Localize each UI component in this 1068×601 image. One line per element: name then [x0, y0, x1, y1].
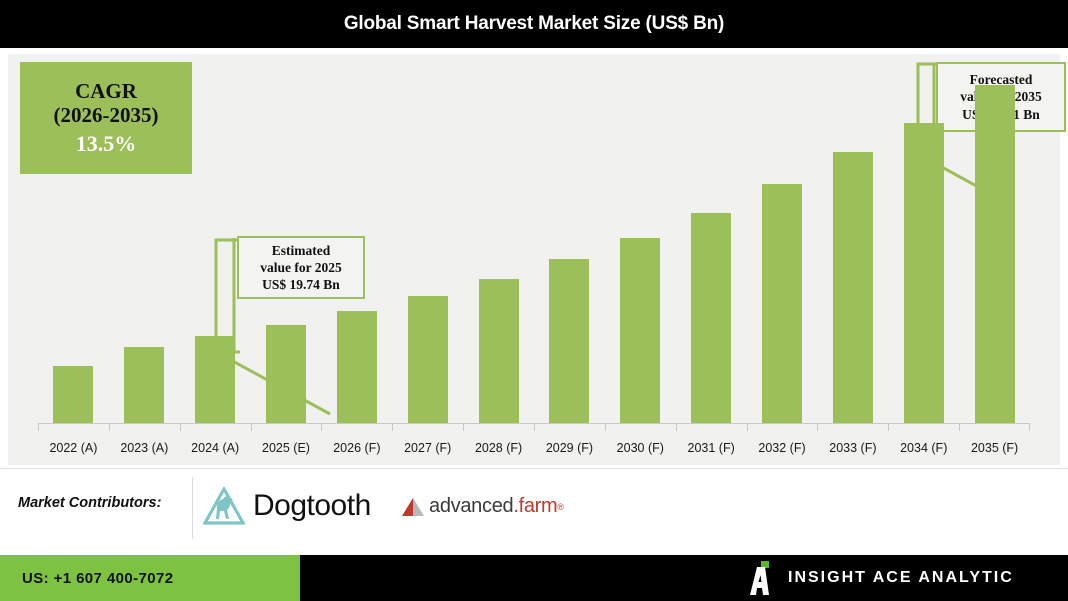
x-tick: [392, 423, 463, 431]
x-tick-label: 2026 (F): [321, 437, 392, 459]
x-tick-label: 2035 (F): [959, 437, 1030, 459]
x-tick-label: 2032 (F): [747, 437, 818, 459]
x-tick-label: 2034 (F): [888, 437, 959, 459]
advanced-farm-word-accent: .farm: [513, 495, 557, 518]
bar: [691, 213, 731, 423]
bar-cell: [959, 64, 1030, 423]
bar-cell: [888, 64, 959, 423]
insight-ace-logo-icon: [748, 561, 774, 595]
x-axis-labels: 2022 (A)2023 (A)2024 (A)2025 (E)2026 (F)…: [38, 437, 1030, 459]
x-tick: [38, 423, 109, 431]
bar: [266, 325, 306, 423]
bar: [337, 311, 377, 423]
x-tick: [534, 423, 605, 431]
footer-phone: US: +1 607 400-7072: [22, 570, 173, 587]
bar-cell: [38, 64, 109, 423]
bar: [479, 279, 519, 423]
bar: [904, 123, 944, 423]
x-tick-label: 2023 (A): [109, 437, 180, 459]
advanced-farm-word-dark: advanced: [429, 495, 513, 518]
x-tick: [747, 423, 818, 431]
x-tick-label: 2031 (F): [676, 437, 747, 459]
bar-cell: [747, 64, 818, 423]
x-tick: [817, 423, 888, 431]
bar-cell: [392, 64, 463, 423]
title-bar: Global Smart Harvest Market Size (US$ Bn…: [0, 0, 1068, 48]
logo-dogtooth: Dogtooth: [203, 487, 371, 525]
x-axis-ticks: [38, 423, 1030, 431]
bar-cell: [534, 64, 605, 423]
x-tick-label: 2028 (F): [463, 437, 534, 459]
logo-advanced-farm: advanced.farm®: [400, 495, 564, 518]
bar-cell: [605, 64, 676, 423]
page-title: Global Smart Harvest Market Size (US$ Bn…: [344, 13, 724, 35]
bar-cell: [676, 64, 747, 423]
chart-panel: CAGR (2026-2035) 13.5% Estimated value f…: [0, 48, 1068, 465]
x-tick-label: 2033 (F): [817, 437, 888, 459]
footer-brand-name: INSIGHT ACE ANALYTIC: [788, 569, 1014, 587]
bar: [408, 296, 448, 423]
bar: [549, 259, 589, 423]
bar-cell: [463, 64, 534, 423]
x-tick-label: 2024 (A): [180, 437, 251, 459]
bar-cell: [251, 64, 322, 423]
x-tick: [180, 423, 251, 431]
x-tick: [463, 423, 534, 431]
x-tick-label: 2022 (A): [38, 437, 109, 459]
bar-cell: [109, 64, 180, 423]
footer-phone-block: US: +1 607 400-7072: [0, 555, 300, 601]
contributors-label: Market Contributors:: [18, 495, 161, 511]
x-tick-label: 2029 (F): [534, 437, 605, 459]
bar-series: [8, 64, 1060, 423]
infographic-page: Global Smart Harvest Market Size (US$ Bn…: [0, 0, 1068, 601]
x-tick: [321, 423, 392, 431]
footer-brand-block: INSIGHT ACE ANALYTIC: [748, 555, 1014, 601]
bar: [620, 238, 660, 423]
dogtooth-icon: [203, 487, 245, 525]
bar: [195, 336, 235, 423]
divider: [192, 477, 193, 539]
bar-cell: [321, 64, 392, 423]
x-tick: [676, 423, 747, 431]
bar-cell: [817, 64, 888, 423]
bar: [975, 85, 1015, 423]
contributors-strip: Market Contributors: Dogtooth advanced.f…: [0, 468, 1068, 555]
dogtooth-wordmark: Dogtooth: [253, 489, 371, 523]
x-tick: [605, 423, 676, 431]
x-tick-label: 2030 (F): [605, 437, 676, 459]
bar: [833, 152, 873, 423]
advanced-farm-tm: ®: [557, 502, 564, 512]
x-tick-label: 2027 (F): [392, 437, 463, 459]
bar: [53, 366, 93, 423]
bar: [124, 347, 164, 423]
footer-bar: US: +1 607 400-7072 INSIGHT ACE ANALYTIC: [0, 555, 1068, 601]
advanced-farm-icon: [400, 496, 426, 518]
x-tick: [251, 423, 322, 431]
x-tick: [959, 423, 1030, 431]
plot-area: CAGR (2026-2035) 13.5% Estimated value f…: [8, 54, 1060, 465]
bar-cell: [180, 64, 251, 423]
x-tick-label: 2025 (E): [251, 437, 322, 459]
x-tick: [109, 423, 180, 431]
x-tick: [888, 423, 959, 431]
bar: [762, 184, 802, 423]
